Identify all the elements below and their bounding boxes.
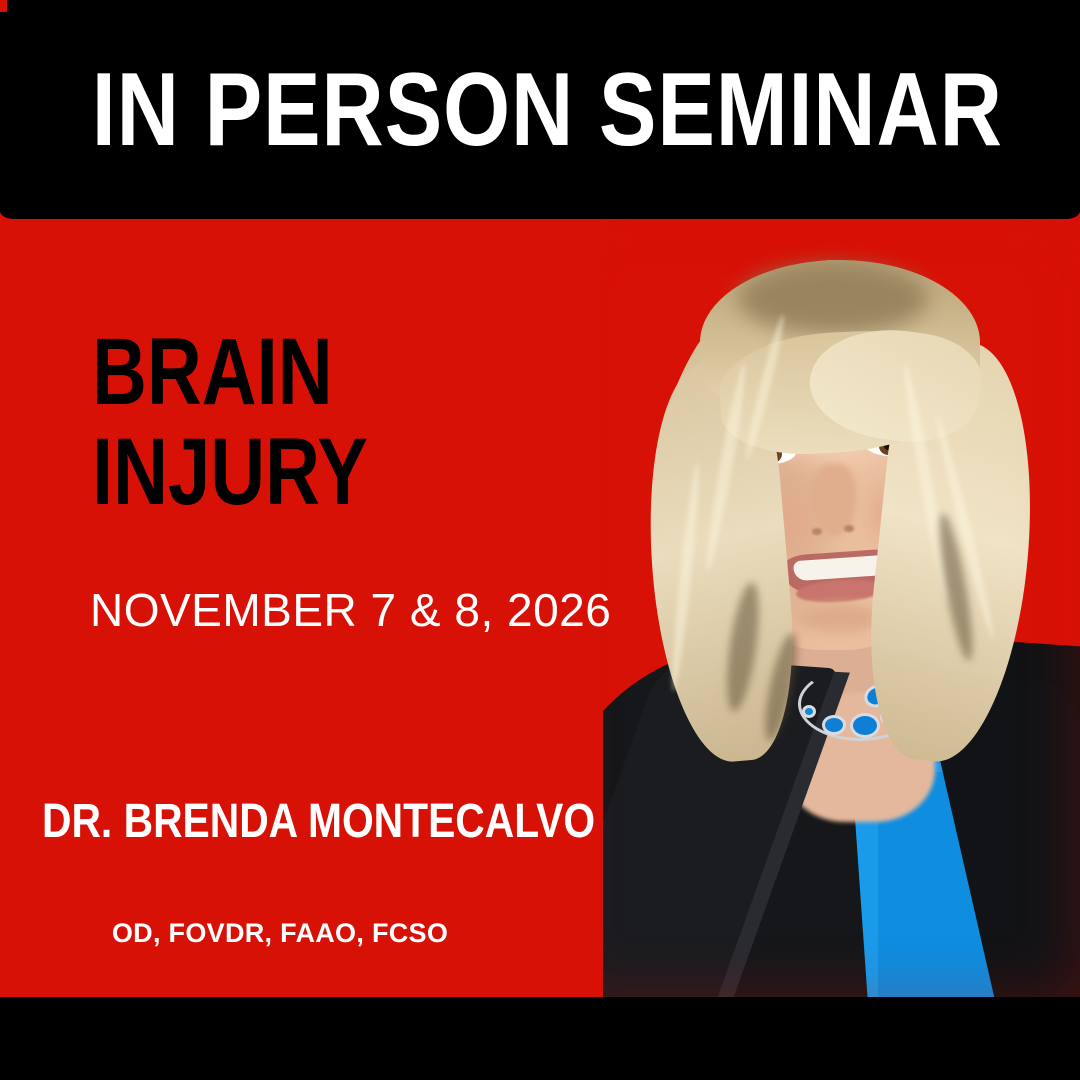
topic-line-1: BRAIN	[92, 322, 368, 422]
speaker-portrait-photo	[560, 212, 1080, 998]
chin-shading	[798, 604, 882, 632]
top-left-red-sliver	[0, 0, 7, 12]
nostril-left	[812, 528, 822, 535]
speaker-name: DR. BRENDA MONTECALVO	[42, 798, 518, 846]
hair-roots	[738, 264, 928, 334]
necklace-bead	[822, 715, 846, 735]
credential-line: OD, FOVDR, FAAO, FCSO	[0, 918, 560, 949]
necklace-bead	[802, 705, 816, 718]
event-date: NOVEMBER 7 & 8, 2026	[90, 586, 611, 634]
footer-band	[0, 997, 1080, 1080]
seminar-topic: BRAIN INJURY	[92, 322, 437, 522]
necklace-bead	[850, 713, 880, 738]
header-title: IN PERSON SEMINAR	[92, 58, 988, 162]
header-band: IN PERSON SEMINAR	[0, 0, 1080, 219]
seminar-poster: BRAIN INJURY NOVEMBER 7 & 8, 2026 DR. BR…	[0, 0, 1080, 1080]
topic-line-2: INJURY	[92, 422, 368, 522]
portrait-inner	[560, 212, 1080, 998]
nostril-right	[844, 525, 854, 532]
